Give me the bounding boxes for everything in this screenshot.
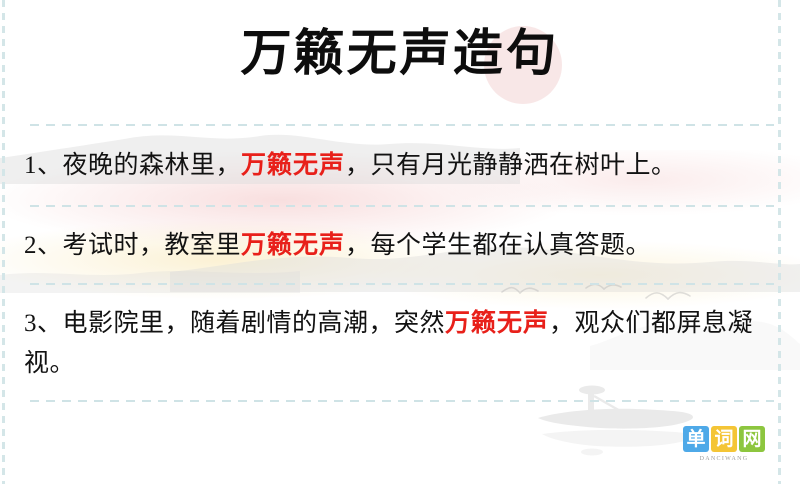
sentence-text-before: 电影院里，随着剧情的高潮，突然 [63,310,446,337]
separator-rule [30,283,774,285]
site-logo[interactable]: 单 词 网 DANCIWANG [678,426,770,462]
sentence-index: 1、 [24,152,63,179]
page-title-text: 万籁无声造句 [240,22,560,85]
list-item: 3、电影院里，随着剧情的高潮，突然万籁无声，观众们都屏息凝视。 [24,304,776,384]
sentence-text-before: 夜晚的森林里， [63,152,242,179]
sentence-text-after: ，每个学生都在认真答题。 [345,232,651,259]
page-title: 万籁无声造句 [0,22,800,85]
worksheet-page: 万籁无声造句 1、夜晚的森林里，万籁无声，只有月光静静洒在树叶上。 2、考试时，… [0,0,800,484]
sentence-index: 3、 [24,310,63,337]
sentence-index: 2、 [24,232,63,259]
idiom-highlight: 万籁无声 [445,310,549,337]
separator-rule [30,124,774,126]
sentence-text-after: ，只有月光静静洒在树叶上。 [345,152,677,179]
list-item: 1、夜晚的森林里，万籁无声，只有月光静静洒在树叶上。 [24,146,776,186]
logo-caption: DANCIWANG [678,456,770,462]
logo-tile-3: 网 [739,426,765,452]
separator-rule [30,400,774,402]
idiom-highlight: 万籁无声 [241,232,345,259]
idiom-highlight: 万籁无声 [241,152,345,179]
logo-tiles: 单 词 网 [678,426,770,452]
separator-rule [30,205,774,207]
logo-tile-2: 词 [711,426,737,452]
list-item: 2、考试时，教室里万籁无声，每个学生都在认真答题。 [24,226,776,266]
logo-tile-1: 单 [683,426,709,452]
sentence-text-before: 考试时，教室里 [63,232,242,259]
